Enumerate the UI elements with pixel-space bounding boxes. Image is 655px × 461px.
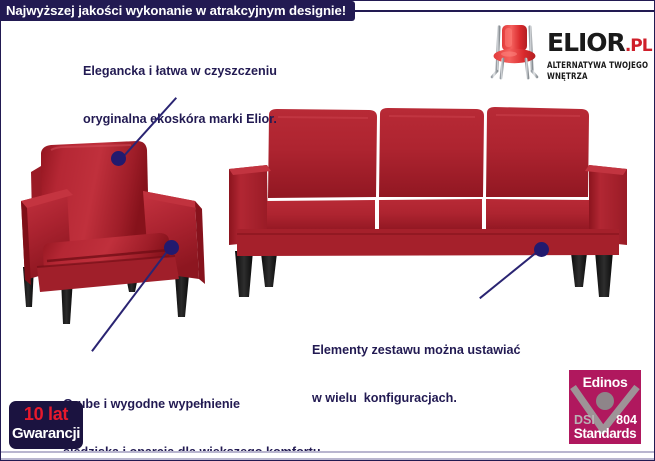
sofa-seat-cushion	[267, 200, 375, 232]
sofa-leg	[261, 253, 277, 287]
sofa-back-cushion	[379, 108, 484, 197]
marker-dot-upholstery	[111, 151, 126, 166]
annotation-padding: Grube i wygodne wypełnienie siedziska i …	[63, 364, 324, 461]
sofa-base	[237, 229, 619, 256]
annotation-upholstery-line1: Elegancka i łatwa w czyszczeniu	[83, 63, 277, 79]
sofa-back-cushion	[268, 109, 377, 198]
logo-brand: ELIOR.PL	[547, 30, 651, 59]
edinos-badge: Edinos DSI 804 Standards	[569, 370, 641, 444]
warranty-badge: 10 lat Gwarancji	[9, 401, 83, 449]
sofa-leg	[571, 253, 587, 287]
headline-text: Najwyższej jakości wykonanie w atrakcyjn…	[1, 1, 355, 21]
sofa-seat-cushion	[486, 199, 589, 231]
annotation-configuration-line1: Elementy zestawu można ustawiać	[312, 342, 521, 358]
marker-dot-padding	[164, 240, 179, 255]
annotation-configuration-line2: w wielu konfiguracjach.	[312, 390, 521, 406]
marker-dot-configuration	[534, 242, 549, 257]
annotation-upholstery: Elegancka i łatwa w czyszczeniu oryginal…	[83, 31, 277, 159]
annotation-upholstery-line2: oryginalna ekoskóra marki Elior.	[83, 111, 277, 127]
annotation-padding-line1: Grube i wygodne wypełnienie	[63, 396, 324, 412]
logo-tagline: ALTERNATYWA TWOJEGO WNĘTRZA	[547, 59, 651, 82]
annotation-configuration: Elementy zestawu można ustawiać w wielu …	[312, 310, 521, 438]
edinos-number-code: 804	[616, 413, 637, 427]
footer-rule-inner	[1, 453, 654, 458]
edinos-dsi-code: DSI	[574, 413, 595, 427]
logo-tld: .PL	[625, 36, 652, 56]
sofa-seat-cushion	[379, 199, 482, 230]
warranty-years: 10 lat	[9, 404, 83, 425]
sofa-back-cushion	[486, 107, 589, 197]
product-infographic: Najwyższej jakości wykonanie w atrakcyjn…	[0, 0, 655, 461]
armchair-image	[9, 139, 214, 329]
chair-icon	[481, 21, 547, 83]
logo-wordmark: ELIOR.PL ALTERNATYWA TWOJEGO WNĘTRZA	[547, 30, 651, 77]
sofa-image	[223, 101, 635, 301]
sofa-leg	[235, 251, 253, 297]
footer-rule	[1, 451, 654, 460]
armchair-leg	[175, 275, 189, 317]
edinos-standards-label: Standards	[569, 426, 641, 441]
edinos-name: Edinos	[569, 374, 641, 390]
logo-brand-name: ELIOR	[547, 28, 625, 57]
sofa-leg	[595, 251, 613, 297]
warranty-label: Gwarancji	[9, 425, 83, 442]
brand-logo: ELIOR.PL ALTERNATYWA TWOJEGO WNĘTRZA	[479, 19, 651, 85]
